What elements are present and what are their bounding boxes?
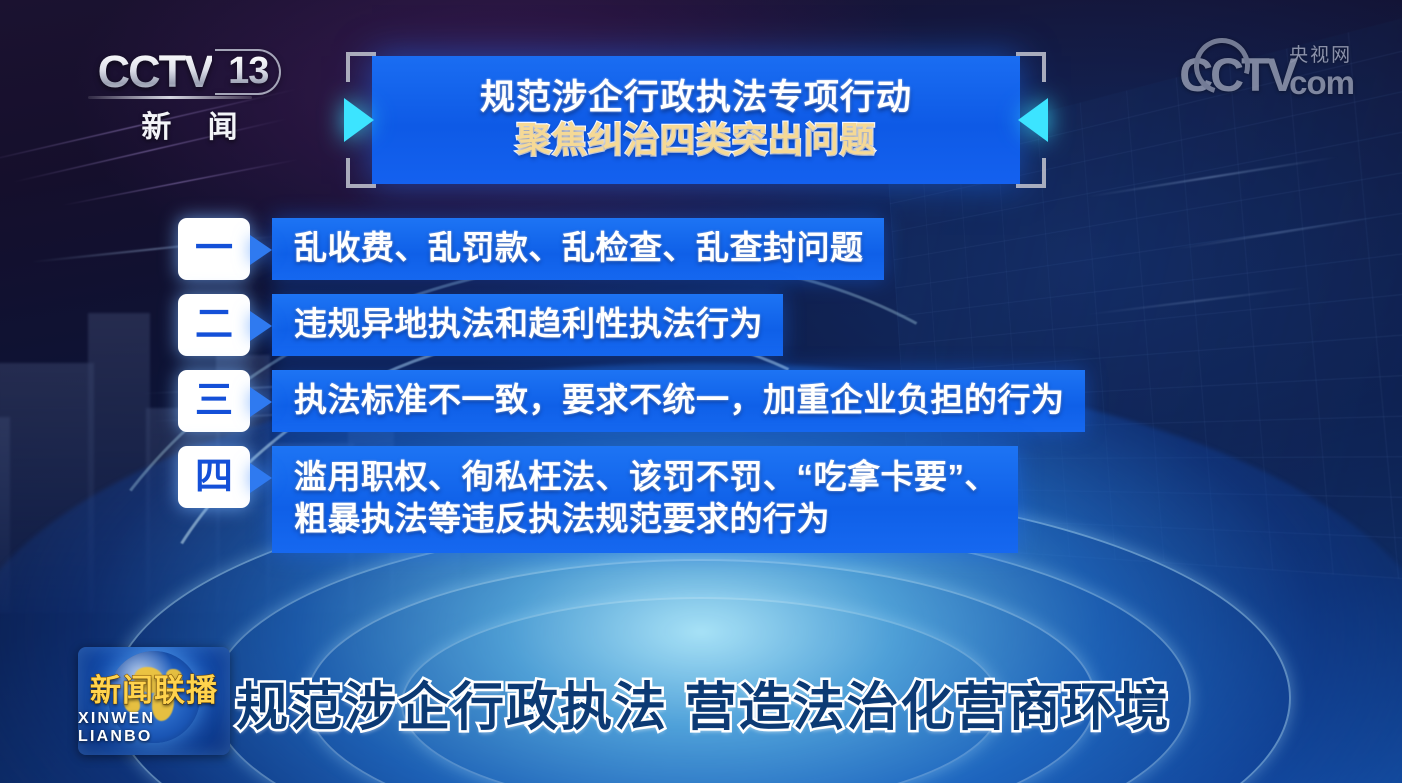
list-item-text-line: 执法标准不一致，要求不统一，加重企业负担的行为 — [294, 379, 1065, 421]
program-name-cn: 新闻联播 — [90, 675, 218, 706]
cctv13-channel-logo: CCTV 13 新 闻 — [82, 44, 297, 148]
corner-bracket-bottom-right-icon — [1016, 158, 1046, 188]
corner-bracket-top-left-icon — [346, 52, 376, 82]
corner-bracket-bottom-left-icon — [346, 158, 376, 188]
list-item-text-line: 违规异地执法和趋利性执法行为 — [294, 303, 763, 345]
program-name-en: XINWEN LIANBO — [78, 710, 230, 746]
cctv-wordmark: CCTV — [98, 46, 213, 98]
list-item: 二 违规异地执法和趋利性执法行为 — [178, 294, 1085, 356]
channel-subtitle: 新 闻 — [127, 102, 251, 146]
cctv-com-watermark: CCTV 央视网 com — [1179, 40, 1354, 98]
list-item-text-line: 滥用职权、徇私枉法、该罚不罚、“吃拿卡要”、 — [294, 456, 998, 498]
list-item-arrow-icon — [250, 311, 272, 341]
list-item: 一 乱收费、乱罚款、乱检查、乱查封问题 — [178, 218, 1085, 280]
triangle-right-accent-icon — [344, 98, 374, 142]
problem-list: 一 乱收费、乱罚款、乱检查、乱查封问题 二 违规异地执法和趋利性执法行为 三 执… — [178, 218, 1085, 553]
list-item-bar: 滥用职权、徇私枉法、该罚不罚、“吃拿卡要”、 粗暴执法等违反执法规范要求的行为 — [272, 446, 1018, 553]
list-item-bar: 执法标准不一致，要求不统一，加重企业负担的行为 — [272, 370, 1085, 432]
title-line-1: 规范涉企行政执法专项行动 — [480, 78, 912, 117]
channel-number-badge: 13 — [215, 49, 281, 95]
list-item-number-badge: 四 — [178, 446, 250, 508]
logo-underline — [88, 96, 252, 99]
headline-container: 规范涉企行政执法 营造法治化营商环境 — [236, 667, 1402, 749]
lower-third-banner: 新闻联播 XINWEN LIANBO 规范涉企行政执法 营造法治化营商环境 — [0, 637, 1402, 783]
list-item-number-badge: 一 — [178, 218, 250, 280]
title-card-box: 规范涉企行政执法专项行动 聚焦纠治四类突出问题 — [372, 56, 1020, 184]
title-card: 规范涉企行政执法专项行动 聚焦纠治四类突出问题 — [372, 56, 1020, 184]
watermark-cn-text: 央视网 — [1289, 40, 1354, 67]
list-item-number-badge: 三 — [178, 370, 250, 432]
banner-headline: 规范涉企行政执法 营造法治化营商环境 — [236, 682, 1170, 734]
watermark-right-block: 央视网 com — [1289, 40, 1354, 98]
triangle-left-accent-icon — [1018, 98, 1048, 142]
watermark-com-text: com — [1289, 68, 1354, 98]
list-item-text-line: 粗暴执法等违反执法规范要求的行为 — [294, 498, 998, 540]
cctv13-logo-row: CCTV 13 — [98, 44, 282, 100]
list-item: 三 执法标准不一致，要求不统一，加重企业负担的行为 — [178, 370, 1085, 432]
corner-bracket-top-right-icon — [1016, 52, 1046, 82]
title-line-2: 聚焦纠治四类突出问题 — [516, 120, 876, 161]
list-item-arrow-icon — [250, 235, 272, 265]
list-item: 四 滥用职权、徇私枉法、该罚不罚、“吃拿卡要”、 粗暴执法等违反执法规范要求的行… — [178, 446, 1085, 553]
list-item-arrow-icon — [250, 387, 272, 417]
list-item-bar: 乱收费、乱罚款、乱检查、乱查封问题 — [272, 218, 884, 280]
list-item-text-line: 乱收费、乱罚款、乱检查、乱查封问题 — [294, 227, 864, 269]
list-item-number-badge: 二 — [178, 294, 250, 356]
broadcast-graphic-stage: CCTV 13 新 闻 CCTV 央视网 com 规范涉企行政执法专项行动 聚焦… — [0, 0, 1402, 783]
list-item-bar: 违规异地执法和趋利性执法行为 — [272, 294, 783, 356]
list-item-arrow-icon — [250, 463, 272, 493]
xinwen-lianbo-logo: 新闻联播 XINWEN LIANBO — [78, 647, 230, 755]
